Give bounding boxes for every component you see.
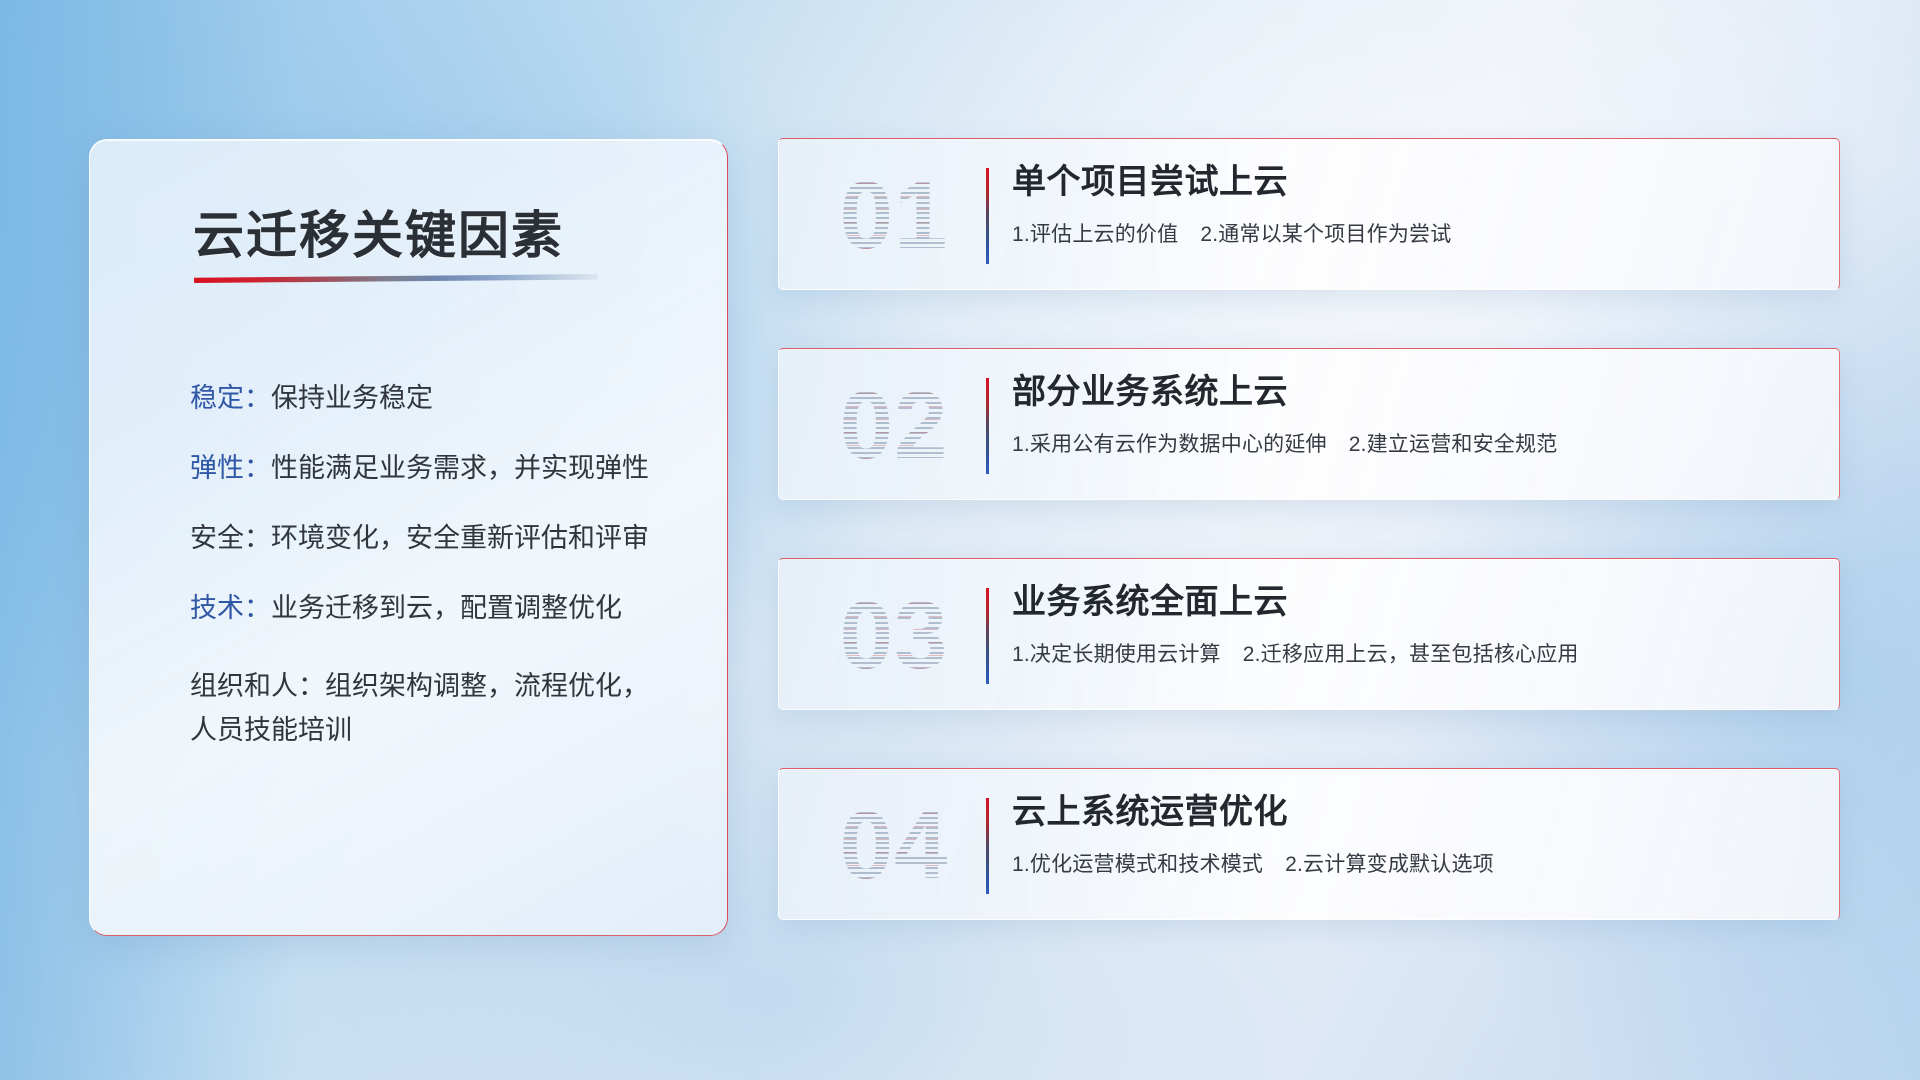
- step-point-2: 2.云计算变成默认选项: [1285, 853, 1494, 876]
- step-number-tint: 03: [819, 577, 969, 695]
- factor-row: 弹性：性能满足业务需求，并实现弹性: [190, 455, 660, 482]
- factor-description: 保持业务稳定: [271, 383, 433, 413]
- step-subtitle: 1.优化运营模式和技术模式2.云计算变成默认选项: [1012, 848, 1494, 878]
- page-title: 云迁移关键因素: [193, 194, 564, 268]
- factor-description: 业务迁移到云，配置调整优化: [271, 593, 622, 623]
- step-subtitle: 1.决定长期使用云计算2.迁移应用上云，甚至包括核心应用: [1012, 638, 1579, 668]
- factor-row: 稳定：保持业务稳定: [190, 385, 660, 412]
- step-point-2: 2.建立运营和安全规范: [1349, 433, 1558, 456]
- step-accent-divider: [986, 798, 989, 894]
- step-accent-divider: [986, 168, 989, 264]
- step-point-2: 2.通常以某个项目作为尝试: [1200, 223, 1451, 246]
- factor-row: 安全：环境变化，安全重新评估和评审: [190, 525, 660, 552]
- step-number-tint: 01: [819, 157, 969, 275]
- slide-stage: 云迁移关键因素 稳定：保持业务稳定弹性：性能满足业务需求，并实现弹性安全：环境变…: [0, 0, 1920, 1080]
- step-point-1: 1.采用公有云作为数据中心的延伸: [1012, 433, 1327, 456]
- step-card[interactable]: 0303业务系统全面上云1.决定长期使用云计算2.迁移应用上云，甚至包括核心应用: [778, 558, 1840, 710]
- step-subtitle: 1.评估上云的价值2.通常以某个项目作为尝试: [1012, 218, 1451, 248]
- step-subtitle: 1.采用公有云作为数据中心的延伸2.建立运营和安全规范: [1012, 428, 1557, 458]
- step-point-2: 2.迁移应用上云，甚至包括核心应用: [1243, 643, 1579, 666]
- title-underline-rule: [194, 274, 598, 283]
- step-text-block: 云上系统运营优化1.优化运营模式和技术模式2.云计算变成默认选项: [1012, 791, 1494, 878]
- key-factors-list: 稳定：保持业务稳定弹性：性能满足业务需求，并实现弹性安全：环境变化，安全重新评估…: [190, 385, 660, 795]
- step-title: 云上系统运营优化: [1012, 791, 1494, 835]
- step-point-1: 1.优化运营模式和技术模式: [1012, 853, 1263, 876]
- step-text-block: 单个项目尝试上云1.评估上云的价值2.通常以某个项目作为尝试: [1012, 161, 1451, 248]
- step-text-block: 部分业务系统上云1.采用公有云作为数据中心的延伸2.建立运营和安全规范: [1012, 371, 1557, 458]
- step-number-tint: 02: [819, 367, 969, 485]
- factor-row: 组织和人：组织架构调整，流程优化，人员技能培训: [190, 665, 660, 752]
- step-card[interactable]: 0404云上系统运营优化1.优化运营模式和技术模式2.云计算变成默认选项: [778, 768, 1840, 920]
- step-title: 业务系统全面上云: [1012, 581, 1579, 625]
- step-number-tint: 04: [819, 787, 969, 905]
- step-accent-divider: [986, 378, 989, 474]
- step-point-1: 1.评估上云的价值: [1012, 223, 1178, 246]
- step-accent-divider: [986, 588, 989, 684]
- step-card[interactable]: 0101单个项目尝试上云1.评估上云的价值2.通常以某个项目作为尝试: [778, 138, 1840, 290]
- step-title: 部分业务系统上云: [1012, 371, 1557, 415]
- factor-description: 环境变化，安全重新评估和评审: [271, 523, 649, 553]
- key-factors-panel: 云迁移关键因素 稳定：保持业务稳定弹性：性能满足业务需求，并实现弹性安全：环境变…: [89, 139, 728, 936]
- step-point-1: 1.决定长期使用云计算: [1012, 643, 1221, 666]
- step-text-block: 业务系统全面上云1.决定长期使用云计算2.迁移应用上云，甚至包括核心应用: [1012, 581, 1579, 668]
- factor-label: 安全：: [190, 523, 271, 553]
- factor-label: 技术：: [190, 593, 271, 623]
- factor-description: 性能满足业务需求，并实现弹性: [271, 453, 649, 483]
- cloud-migration-steps: 0101单个项目尝试上云1.评估上云的价值2.通常以某个项目作为尝试0202部分…: [778, 138, 1840, 978]
- factor-label: 稳定：: [190, 383, 271, 413]
- factor-label: 弹性：: [190, 453, 271, 483]
- step-title: 单个项目尝试上云: [1012, 161, 1451, 205]
- step-card[interactable]: 0202部分业务系统上云1.采用公有云作为数据中心的延伸2.建立运营和安全规范: [778, 348, 1840, 500]
- factor-label: 组织和人：: [190, 671, 325, 701]
- factor-row: 技术：业务迁移到云，配置调整优化: [190, 595, 660, 622]
